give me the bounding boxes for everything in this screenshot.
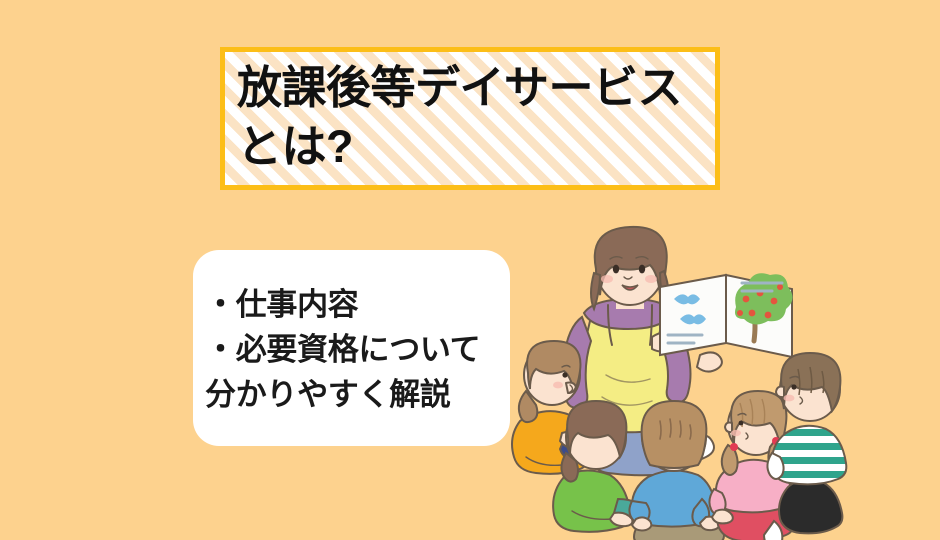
title-banner: 放課後等デイサービス とは? (220, 47, 720, 190)
bullet-line-easy-explanation: 分かりやすく解説 (201, 372, 510, 417)
bullet-card: ・仕事内容 ・必要資格について 分かりやすく解説 (193, 250, 510, 446)
title-line-2: とは? (237, 118, 715, 176)
slide-canvas: 放課後等デイサービス とは? ・仕事内容 ・必要資格について 分かりやすく解説 … (0, 0, 940, 540)
title-line-1: 放課後等デイサービス (237, 58, 715, 118)
picture-book (660, 273, 793, 357)
bullet-line-work-content: ・仕事内容 (201, 282, 510, 327)
bullet-line-required-qualifications: ・必要資格について (201, 327, 510, 372)
child-striped-shirt (766, 353, 856, 533)
illustration-teacher-and-children: .ln { fill:none; stroke:#6B5B4B; stroke-… (510, 225, 940, 540)
